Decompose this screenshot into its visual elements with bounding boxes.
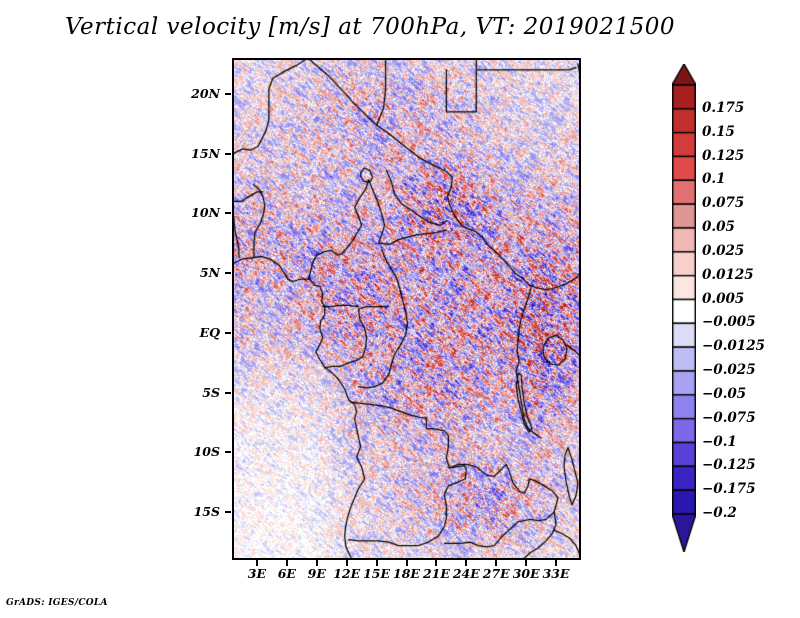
x-axis-tick bbox=[286, 560, 288, 566]
y-axis-tick bbox=[225, 272, 231, 274]
grads-credit: GrADS: IGES/COLA bbox=[6, 598, 108, 608]
colorbar-tick-label: 0.125 bbox=[702, 148, 744, 164]
y-axis-tick-label: 20N bbox=[160, 86, 220, 101]
x-axis-tick-label: 33E bbox=[536, 566, 576, 581]
colorbar-tick-label: −0.125 bbox=[702, 457, 756, 473]
x-axis-tick bbox=[406, 560, 408, 566]
colorbar-tick-label: 0.175 bbox=[702, 100, 744, 116]
y-axis-tick bbox=[225, 511, 231, 513]
map-plot-area bbox=[232, 58, 581, 560]
colorbar-tick-label: −0.005 bbox=[702, 314, 756, 330]
x-axis-tick bbox=[256, 560, 258, 566]
colorbar-tick-label: −0.0125 bbox=[702, 338, 765, 354]
x-axis-tick bbox=[525, 560, 527, 566]
colorbar-tick-label: 0.1 bbox=[702, 171, 726, 187]
colorbar-tick-label: −0.2 bbox=[702, 505, 737, 521]
y-axis-tick bbox=[225, 451, 231, 453]
colorbar-tick-label: −0.1 bbox=[702, 434, 737, 450]
colorbar-tick-label: 0.025 bbox=[702, 243, 744, 259]
x-axis-tick bbox=[435, 560, 437, 566]
y-axis-tick bbox=[225, 392, 231, 394]
y-axis-tick-label: 15S bbox=[160, 504, 220, 519]
y-axis-tick-label: 5N bbox=[160, 265, 220, 280]
x-axis-tick bbox=[465, 560, 467, 566]
colorbar-tick-label: −0.075 bbox=[702, 410, 756, 426]
colorbar-tick-label: −0.025 bbox=[702, 362, 756, 378]
colorbar-tick-label: −0.05 bbox=[702, 386, 746, 402]
colorbar-tick-label: 0.005 bbox=[702, 291, 744, 307]
colorbar-tick-label: −0.175 bbox=[702, 481, 756, 497]
y-axis-tick bbox=[225, 332, 231, 334]
x-axis-tick bbox=[495, 560, 497, 566]
map-borders-overlay bbox=[232, 58, 581, 560]
page-title: Vertical velocity [m/s] at 700hPa, VT: 2… bbox=[0, 14, 740, 40]
colorbar-tick-label: 0.0125 bbox=[702, 267, 754, 283]
colorbar-tick-label: 0.05 bbox=[702, 219, 735, 235]
y-axis-tick bbox=[225, 153, 231, 155]
x-axis-tick bbox=[376, 560, 378, 566]
x-axis-tick bbox=[346, 560, 348, 566]
y-axis-tick-label: 15N bbox=[160, 146, 220, 161]
colorbar-tick-label: 0.15 bbox=[702, 124, 735, 140]
y-axis-tick-label: EQ bbox=[160, 325, 220, 340]
x-axis-tick bbox=[316, 560, 318, 566]
y-axis-tick-label: 10N bbox=[160, 205, 220, 220]
y-axis-tick-label: 10S bbox=[160, 444, 220, 459]
x-axis-tick bbox=[555, 560, 557, 566]
y-axis-tick-label: 5S bbox=[160, 385, 220, 400]
colorbar bbox=[672, 64, 696, 552]
y-axis-tick bbox=[225, 212, 231, 214]
y-axis-tick bbox=[225, 93, 231, 95]
colorbar-tick-label: 0.075 bbox=[702, 195, 744, 211]
